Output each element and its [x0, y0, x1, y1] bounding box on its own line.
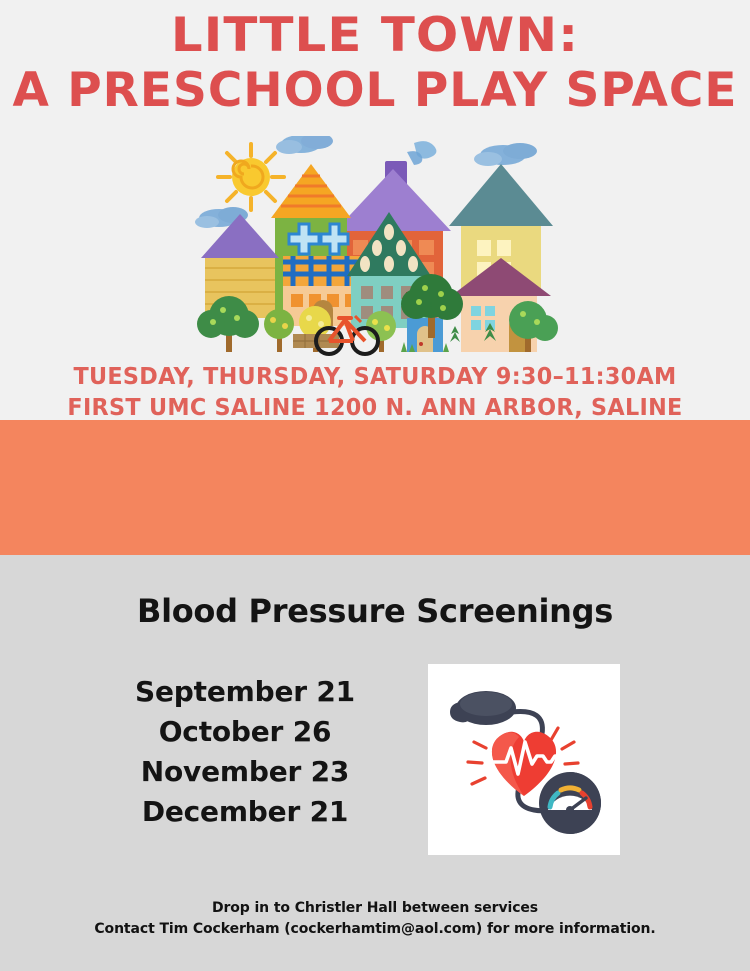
town-illustration [185, 136, 575, 362]
blood-pressure-image-card [428, 664, 620, 855]
orange-divider-band [0, 420, 750, 555]
blood-pressure-monitor-icon [428, 664, 620, 855]
footer-text: Drop in to Christler Hall between servic… [0, 898, 750, 940]
cloud-icon [474, 143, 537, 166]
tree-icon [264, 309, 294, 352]
footer-line-contact: Contact Tim Cockerham (cockerhamtim@aol.… [0, 919, 750, 940]
list-item: October 26 [60, 712, 430, 752]
title-line-2: A PRESCHOOL PLAY SPACE [0, 67, 750, 114]
footer-line-dropin: Drop in to Christler Hall between servic… [0, 898, 750, 919]
list-item: September 21 [60, 672, 430, 712]
cloud-icon [276, 136, 333, 154]
flyer-poster: LITTLE TOWN: A PRESCHOOL PLAY SPACE [0, 0, 750, 971]
title-line-1: LITTLE TOWN: [0, 12, 750, 59]
bush-icon [450, 326, 460, 352]
sun-icon [218, 144, 284, 210]
schedule-text: TUESDAY, THURSDAY, SATURDAY 9:30–11:30AM… [0, 362, 750, 424]
poster-title: LITTLE TOWN: A PRESCHOOL PLAY SPACE [0, 12, 750, 114]
pressure-gauge [539, 772, 601, 834]
list-item: November 23 [60, 752, 430, 792]
tree-icon [366, 311, 396, 352]
screening-dates-list: September 21 October 26 November 23 Dece… [60, 672, 430, 832]
schedule-line-days-time: TUESDAY, THURSDAY, SATURDAY 9:30–11:30AM [11, 362, 739, 393]
list-item: December 21 [60, 792, 430, 832]
blood-pressure-heading: Blood Pressure Screenings [0, 592, 750, 630]
schedule-line-location: FIRST UMC SALINE 1200 N. ANN ARBOR, SALI… [11, 393, 739, 424]
